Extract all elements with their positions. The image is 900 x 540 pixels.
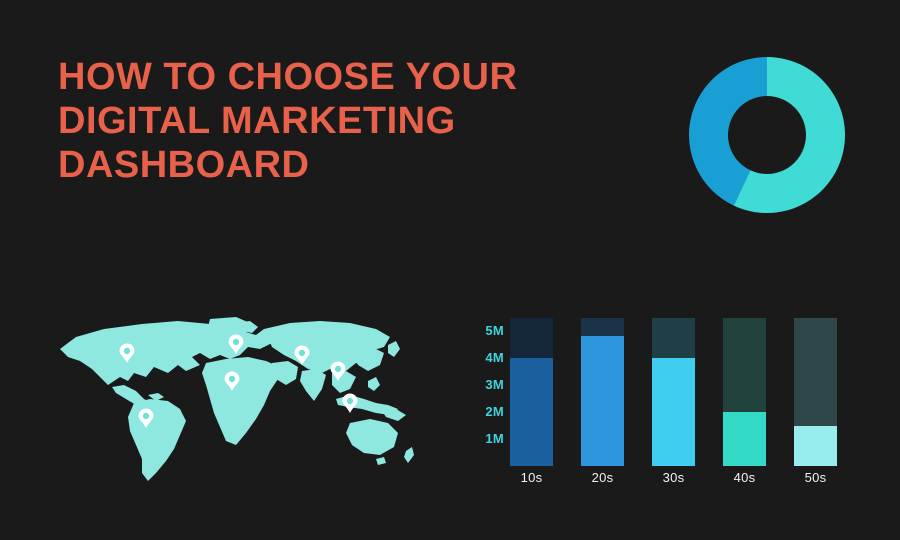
map-land-shape-5 bbox=[128, 399, 186, 481]
map-pin-hole bbox=[335, 366, 341, 372]
bar-column-50s[interactable]: 50s bbox=[794, 318, 837, 466]
page-title: HOW TO CHOOSE YOUR DIGITAL MARKETING DAS… bbox=[58, 55, 658, 187]
map-land-shape-16 bbox=[368, 377, 380, 391]
title-line-3: DASHBOARD bbox=[58, 143, 658, 187]
map-pin-hole bbox=[347, 398, 353, 404]
map-land-shape-18 bbox=[346, 419, 398, 455]
bar-fill bbox=[794, 426, 837, 466]
bar-chart-y-tick-4M: 4M bbox=[485, 352, 504, 364]
bar-chart-x-tick-10s: 10s bbox=[504, 470, 559, 485]
title-line-2: DIGITAL MARKETING bbox=[58, 99, 658, 143]
map-land-shape-17 bbox=[382, 409, 406, 421]
world-map-svg bbox=[50, 315, 415, 485]
map-land-shape-13 bbox=[354, 347, 384, 371]
bar-fill bbox=[652, 358, 695, 466]
bar-chart-x-tick-40s: 40s bbox=[717, 470, 772, 485]
bar-chart-x-tick-30s: 30s bbox=[646, 470, 701, 485]
bar-chart-y-axis: 5M4M3M2M1M bbox=[462, 318, 504, 466]
map-pin-hole bbox=[229, 376, 235, 382]
bar-fill bbox=[510, 358, 553, 466]
map-pin-hole bbox=[143, 413, 149, 419]
poster-canvas: HOW TO CHOOSE YOUR DIGITAL MARKETING DAS… bbox=[0, 0, 900, 540]
map-land-shape-19 bbox=[404, 447, 414, 463]
donut-chart-svg bbox=[687, 55, 847, 215]
bar-fill bbox=[581, 336, 624, 467]
bar-chart-y-tick-3M: 3M bbox=[485, 379, 504, 391]
bar-chart-y-tick-5M: 5M bbox=[485, 325, 504, 337]
bar-chart-y-tick-2M: 2M bbox=[485, 406, 504, 418]
bar-chart-x-tick-50s: 50s bbox=[788, 470, 843, 485]
title-line-1: HOW TO CHOOSE YOUR bbox=[58, 55, 658, 99]
bar-column-20s[interactable]: 20s bbox=[581, 318, 624, 466]
map-land-shape-14 bbox=[388, 341, 400, 357]
map-land-shape-11 bbox=[300, 369, 326, 401]
bar-chart-y-tick-1M: 1M bbox=[485, 433, 504, 445]
bar-fill bbox=[723, 412, 766, 466]
world-map bbox=[50, 315, 415, 485]
pin-southeast-asia[interactable] bbox=[343, 393, 358, 413]
bar-column-30s[interactable]: 30s bbox=[652, 318, 695, 466]
bar-chart-plot-area: 10s20s30s40s50s bbox=[510, 318, 857, 466]
map-pin-hole bbox=[233, 339, 239, 345]
bar-chart-x-tick-20s: 20s bbox=[575, 470, 630, 485]
map-land-shape-20 bbox=[376, 457, 386, 465]
map-pin-hole bbox=[124, 348, 130, 354]
bar-column-40s[interactable]: 40s bbox=[723, 318, 766, 466]
map-land-shape-8 bbox=[202, 357, 280, 445]
progress-bar-chart: 5M4M3M2M1M 10s20s30s40s50s bbox=[462, 318, 857, 490]
map-pin-hole bbox=[299, 350, 305, 356]
donut-chart bbox=[687, 55, 847, 215]
bar-column-10s[interactable]: 10s bbox=[510, 318, 553, 466]
